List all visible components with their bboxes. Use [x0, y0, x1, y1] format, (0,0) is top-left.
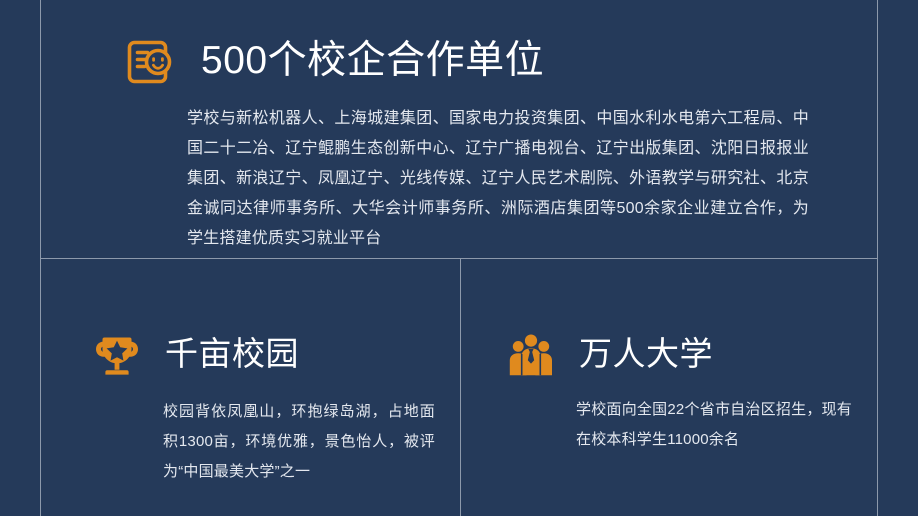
- panel-enrollment-title: 万人大学: [579, 336, 713, 372]
- panel-campus: 千亩校园 校园背依凤凰山，环抱绿岛湖，占地面积1300亩，环境优雅，景色怡人，被…: [41, 259, 460, 516]
- panel-partnerships-header: 500个校企合作单位: [121, 14, 544, 109]
- trophy-star-icon: [91, 329, 143, 381]
- infographic-stage: 500个校企合作单位 学校与新松机器人、上海城建集团、国家电力投资集团、中国水利…: [0, 0, 918, 516]
- panel-partnerships-body: 学校与新松机器人、上海城建集团、国家电力投资集团、中国水利水电第六工程局、中国二…: [187, 104, 809, 254]
- panel-enrollment-header: 万人大学: [505, 309, 713, 400]
- panel-partnerships: 500个校企合作单位 学校与新松机器人、上海城建集团、国家电力投资集团、中国水利…: [41, 0, 877, 258]
- panel-partnerships-title: 500个校企合作单位: [201, 40, 544, 83]
- panel-enrollment: 万人大学 学校面向全国22个省市自治区招生，现有在校本科学生11000余名: [461, 259, 878, 516]
- panel-enrollment-body: 学校面向全国22个省市自治区招生，现有在校本科学生11000余名: [576, 395, 852, 455]
- panel-campus-body: 校园背依凤凰山，环抱绿岛湖，占地面积1300亩，环境优雅，景色怡人，被评为“中国…: [163, 397, 435, 487]
- panel-campus-title: 千亩校园: [165, 336, 299, 372]
- id-card-smiley-icon: [121, 34, 177, 90]
- people-group-icon: [505, 329, 557, 381]
- panel-campus-header: 千亩校园: [91, 309, 299, 400]
